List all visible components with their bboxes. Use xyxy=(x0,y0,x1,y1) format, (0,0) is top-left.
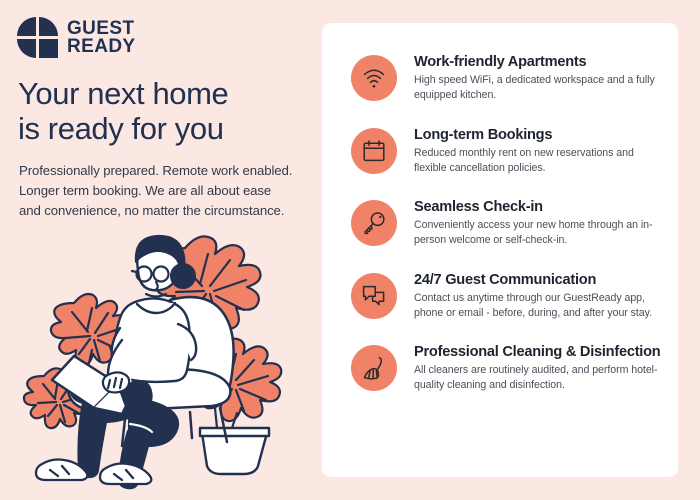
brand-wordmark: GUEST READY xyxy=(67,20,136,55)
feature-item[interactable]: Long-term Bookings Reduced monthly rent … xyxy=(351,126,660,176)
broom-icon xyxy=(361,355,387,381)
wifi-icon-badge xyxy=(351,55,397,101)
chat-bubbles-icon xyxy=(361,283,387,309)
person-head xyxy=(132,236,195,297)
feature-text: Work-friendly Apartments High speed WiFi… xyxy=(414,53,660,103)
hero-subcopy: Professionally prepared. Remote work ena… xyxy=(19,161,294,221)
feature-title: 24/7 Guest Communication xyxy=(414,272,660,288)
feature-item[interactable]: Work-friendly Apartments High speed WiFi… xyxy=(351,53,660,103)
feature-description: All cleaners are routinely audited, and … xyxy=(414,363,660,393)
chat-bubbles-icon-badge xyxy=(351,273,397,319)
feature-title: Seamless Check-in xyxy=(414,199,660,215)
feature-title: Work-friendly Apartments xyxy=(414,54,660,70)
feature-text: Seamless Check-in Conveniently access yo… xyxy=(414,198,660,248)
feature-text: Long-term Bookings Reduced monthly rent … xyxy=(414,126,660,176)
headline-line-1: Your next home xyxy=(18,76,308,111)
feature-description: Reduced monthly rent on new reservations… xyxy=(414,146,660,176)
guestready-quadrant-logo-icon xyxy=(17,17,58,58)
key-icon-badge xyxy=(351,200,397,246)
feature-list: Work-friendly Apartments High speed WiFi… xyxy=(322,23,678,393)
feature-item[interactable]: 24/7 Guest Communication Contact us anyt… xyxy=(351,271,660,321)
brand-logo[interactable]: GUEST READY xyxy=(17,17,136,58)
feature-item[interactable]: Professional Cleaning & Disinfection All… xyxy=(351,343,660,393)
wifi-icon xyxy=(361,65,387,91)
feature-item[interactable]: Seamless Check-in Conveniently access yo… xyxy=(351,198,660,248)
feature-description: High speed WiFi, a dedicated workspace a… xyxy=(414,73,660,103)
feature-description: Contact us anytime through our GuestRead… xyxy=(414,291,660,321)
key-icon xyxy=(361,210,387,236)
features-card: Work-friendly Apartments High speed WiFi… xyxy=(322,23,678,477)
calendar-icon xyxy=(361,138,387,164)
hero-column: GUEST READY Your next home is ready for … xyxy=(0,0,312,500)
person-hands xyxy=(103,372,129,392)
brand-name-line2: READY xyxy=(67,38,136,55)
woman-with-laptop-in-armchair-with-plants-illustration xyxy=(22,228,307,490)
feature-text: 24/7 Guest Communication Contact us anyt… xyxy=(414,271,660,321)
feature-text: Professional Cleaning & Disinfection All… xyxy=(414,343,660,393)
broom-icon-badge xyxy=(351,345,397,391)
page-title: Your next home is ready for you xyxy=(18,76,308,146)
feature-title: Long-term Bookings xyxy=(414,127,660,143)
headline-line-2: is ready for you xyxy=(18,111,308,146)
calendar-icon-badge xyxy=(351,128,397,174)
promo-page: GUEST READY Your next home is ready for … xyxy=(0,0,700,500)
brand-name-line1: GUEST xyxy=(67,20,136,37)
feature-description: Conveniently access your new home throug… xyxy=(414,218,660,248)
feature-title: Professional Cleaning & Disinfection xyxy=(414,344,660,360)
plant-pot xyxy=(200,428,269,474)
